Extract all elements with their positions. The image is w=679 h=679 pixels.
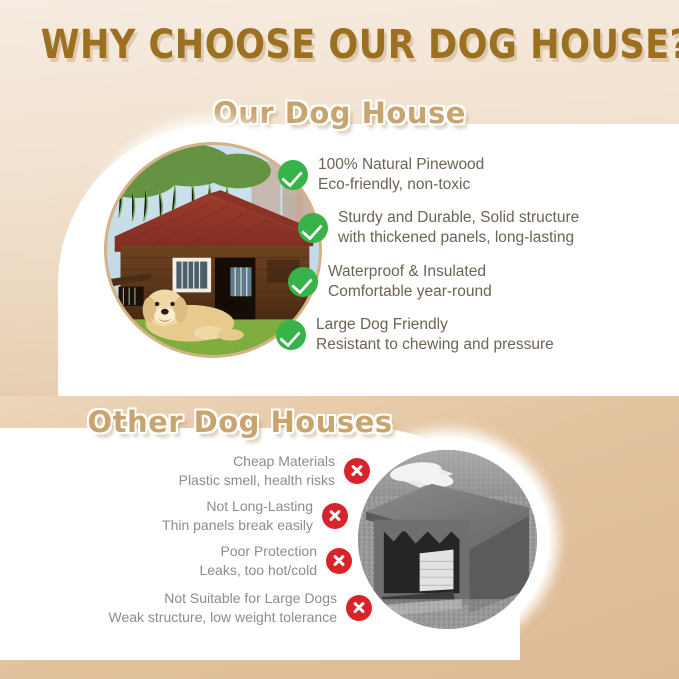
check-icon (278, 160, 308, 190)
drawback-text-1: Cheap Materials Plastic smell, health ri… (179, 452, 335, 490)
feature-text-2: Sturdy and Durable, Solid structure with… (338, 208, 579, 248)
feature-headline-2: Sturdy and Durable, Solid structure (338, 208, 579, 228)
cross-icon (326, 548, 352, 574)
drawback-headline-3: Poor Protection (199, 542, 317, 561)
section-heading-others: Other Dog Houses (0, 405, 480, 439)
check-icon (298, 213, 328, 243)
section-heading-ours: Our Dog House (0, 96, 679, 130)
check-icon (276, 320, 306, 350)
drawback-text-3: Poor Protection Leaks, too hot/cold (199, 542, 317, 580)
drawback-row-2: Not Long-Lasting Thin panels break easil… (0, 497, 348, 535)
feature-row-1: 100% Natural Pinewood Eco-friendly, non-… (278, 155, 484, 195)
cross-icon (346, 595, 372, 621)
feature-detail-2: with thickened panels, long-lasting (338, 228, 579, 248)
cross-icon (344, 458, 370, 484)
cross-icon (322, 503, 348, 529)
feature-row-4: Large Dog Friendly Resistant to chewing … (276, 315, 554, 355)
feature-detail-1: Eco-friendly, non-toxic (318, 175, 484, 195)
feature-headline-4: Large Dog Friendly (316, 315, 554, 335)
drawback-headline-4: Not Suitable for Large Dogs (108, 589, 337, 608)
feature-text-4: Large Dog Friendly Resistant to chewing … (316, 315, 554, 355)
feature-detail-4: Resistant to chewing and pressure (316, 335, 554, 355)
other-dog-house-photo (345, 437, 550, 642)
drawback-headline-2: Not Long-Lasting (162, 497, 313, 516)
drawback-detail-1: Plastic smell, health risks (179, 471, 335, 490)
drawback-row-1: Cheap Materials Plastic smell, health ri… (0, 452, 370, 490)
feature-headline-3: Waterproof & Insulated (328, 262, 492, 282)
feature-headline-1: 100% Natural Pinewood (318, 155, 484, 175)
page-title: WHY CHOOSE OUR DOG HOUSE?" (41, 22, 639, 68)
feature-text-1: 100% Natural Pinewood Eco-friendly, non-… (318, 155, 484, 195)
drawback-row-4: Not Suitable for Large Dogs Weak structu… (0, 589, 372, 627)
drawback-text-4: Not Suitable for Large Dogs Weak structu… (108, 589, 337, 627)
infographic-canvas: WHY CHOOSE OUR DOG HOUSE?" Our Dog House (0, 0, 679, 679)
broken-dog-house-illustration (358, 450, 537, 629)
check-icon (288, 267, 318, 297)
drawback-detail-4: Weak structure, low weight tolerance (108, 608, 337, 627)
feature-detail-3: Comfortable year-round (328, 282, 492, 302)
drawback-detail-3: Leaks, too hot/cold (199, 561, 317, 580)
feature-row-2: Sturdy and Durable, Solid structure with… (298, 208, 579, 248)
feature-row-3: Waterproof & Insulated Comfortable year-… (288, 262, 492, 302)
drawback-headline-1: Cheap Materials (179, 452, 335, 471)
drawback-text-2: Not Long-Lasting Thin panels break easil… (162, 497, 313, 535)
drawback-row-3: Poor Protection Leaks, too hot/cold (0, 542, 352, 580)
feature-text-3: Waterproof & Insulated Comfortable year-… (328, 262, 492, 302)
drawback-detail-2: Thin panels break easily (162, 516, 313, 535)
